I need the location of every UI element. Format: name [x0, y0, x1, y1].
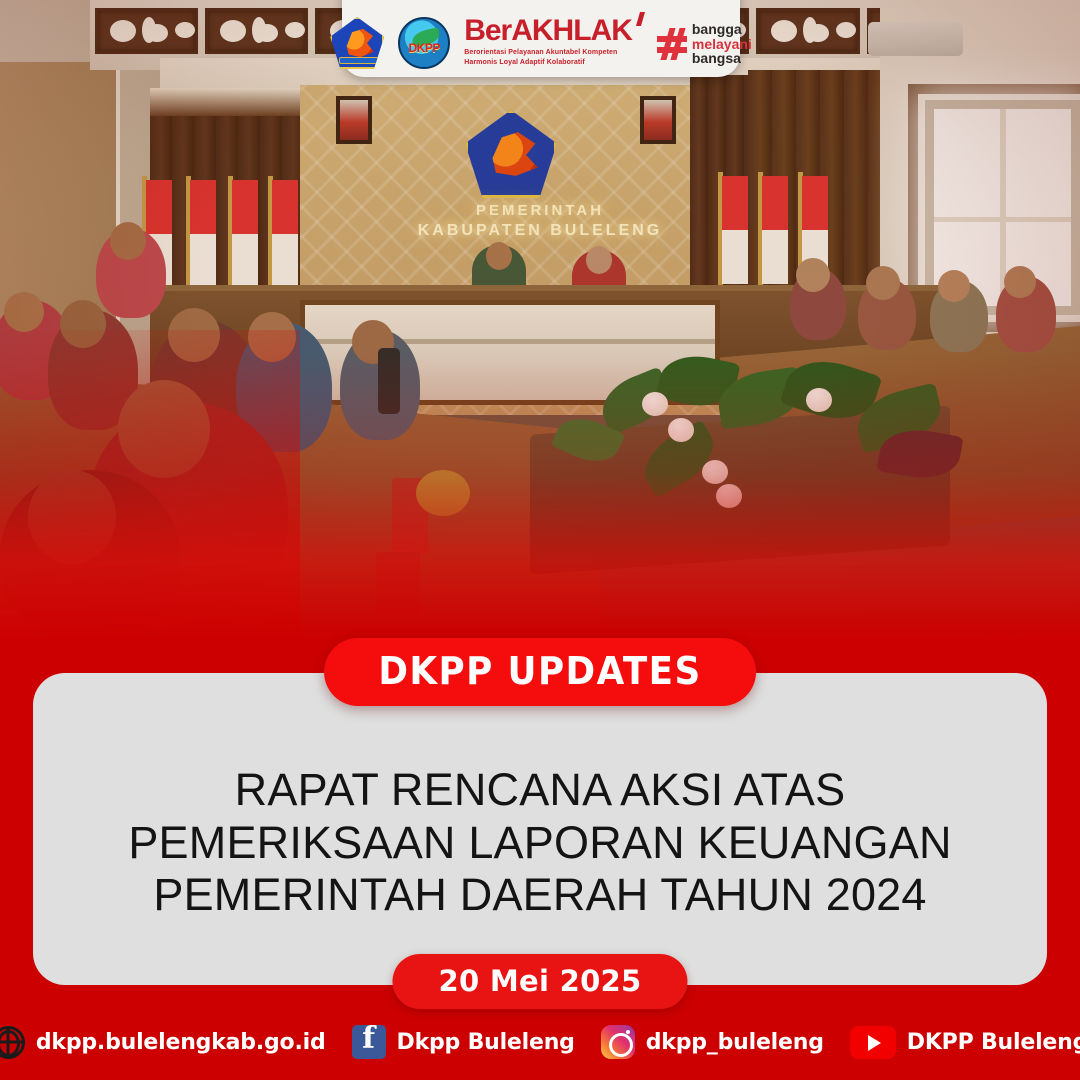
footer-item-instagram[interactable]: dkpp_buleleng — [601, 1025, 824, 1059]
date-badge: 20 Mei 2025 — [392, 954, 687, 1009]
bangga-line1: bangga — [692, 22, 752, 37]
dkpp-updates-badge: DKPP UPDATES — [324, 638, 756, 706]
bangga-melayani-bangsa-logo: bangga melayani bangsa — [657, 22, 752, 69]
berakhlak-ber: Ber — [464, 14, 511, 47]
bangga-line3: bangsa — [692, 51, 752, 66]
poster: PEMERINTAH KABUPATEN BULELENG — [0, 0, 1080, 1080]
dkpp-updates-label: DKPP UPDATES — [378, 652, 701, 690]
footer-item-youtube[interactable]: DKPP Buleleng — [850, 1026, 1080, 1059]
footer-social-bar: dkpp.bulelengkab.go.id Dkpp Buleleng dkp… — [0, 1004, 1080, 1080]
content-card: RAPAT RENCANA AKSI ATAS PEMERIKSAAN LAPO… — [33, 673, 1047, 985]
berakhlak-subtitle-line2: Harmonis Loyal Adaptif Kolaboratif — [464, 58, 643, 67]
globe-icon — [0, 1026, 25, 1059]
facebook-icon — [352, 1025, 386, 1059]
partner-logo-bar: DKPP BerAKHLAK Berorientasi Pelayanan Ak… — [342, 0, 740, 77]
dkpp-logo-text: DKPP — [409, 41, 440, 55]
berakhlak-akhlak: AKHLAK — [511, 14, 632, 47]
website-label: dkpp.bulelengkab.go.id — [36, 1030, 326, 1055]
page-title: RAPAT RENCANA AKSI ATAS PEMERIKSAAN LAPO… — [65, 736, 1015, 922]
bangga-line2: melayani — [692, 37, 752, 52]
hash-icon — [657, 28, 687, 60]
youtube-icon — [850, 1026, 896, 1059]
footer-item-facebook[interactable]: Dkpp Buleleng — [352, 1025, 575, 1059]
bangga-wordmark: bangga melayani bangsa — [692, 22, 752, 66]
photo-red-gradient — [0, 0, 1080, 640]
berakhlak-tick-icon — [631, 12, 645, 26]
footer-item-website[interactable]: dkpp.bulelengkab.go.id — [0, 1026, 326, 1059]
instagram-label: dkpp_buleleng — [646, 1030, 824, 1055]
berakhlak-subtitle-line1: Berorientasi Pelayanan Akuntabel Kompete… — [464, 48, 643, 57]
event-photo: PEMERINTAH KABUPATEN BULELENG — [0, 0, 1080, 640]
date-label: 20 Mei 2025 — [438, 967, 641, 996]
instagram-icon — [601, 1025, 635, 1059]
dkpp-circular-logo-icon: DKPP — [398, 17, 450, 69]
berakhlak-wordmark: BerAKHLAK — [464, 16, 643, 46]
facebook-label: Dkpp Buleleng — [397, 1030, 575, 1055]
berakhlak-subtitle: Berorientasi Pelayanan Akuntabel Kompete… — [464, 48, 643, 67]
youtube-label: DKPP Buleleng — [907, 1030, 1080, 1055]
berakhlak-logo: BerAKHLAK Berorientasi Pelayanan Akuntab… — [464, 16, 643, 69]
